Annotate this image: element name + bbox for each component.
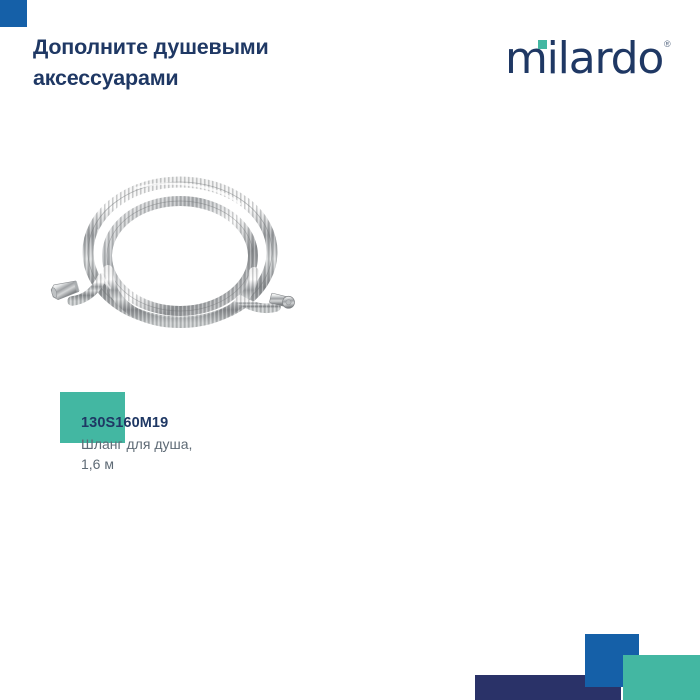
- product-description: Шланг для душа, 1,6 м: [81, 435, 311, 474]
- product-code: 130S160M19: [81, 414, 311, 433]
- decor-bottom-teal-square: [623, 655, 700, 700]
- logo-accent-dot-icon: [538, 40, 547, 49]
- brand-logo: milardo ®: [505, 35, 675, 85]
- page-title: Дополните душевыми аксессуарами: [33, 32, 373, 93]
- marketing-banner: Дополните душевыми аксессуарами milardo …: [0, 0, 700, 700]
- registered-trademark-icon: ®: [664, 39, 671, 49]
- product-caption: 130S160M19 Шланг для душа, 1,6 м: [81, 414, 311, 474]
- decor-top-left-square: [0, 0, 27, 27]
- brand-wordmark: milardo: [505, 35, 663, 83]
- shower-hose-illustration: [40, 160, 320, 345]
- product-image: [40, 160, 320, 345]
